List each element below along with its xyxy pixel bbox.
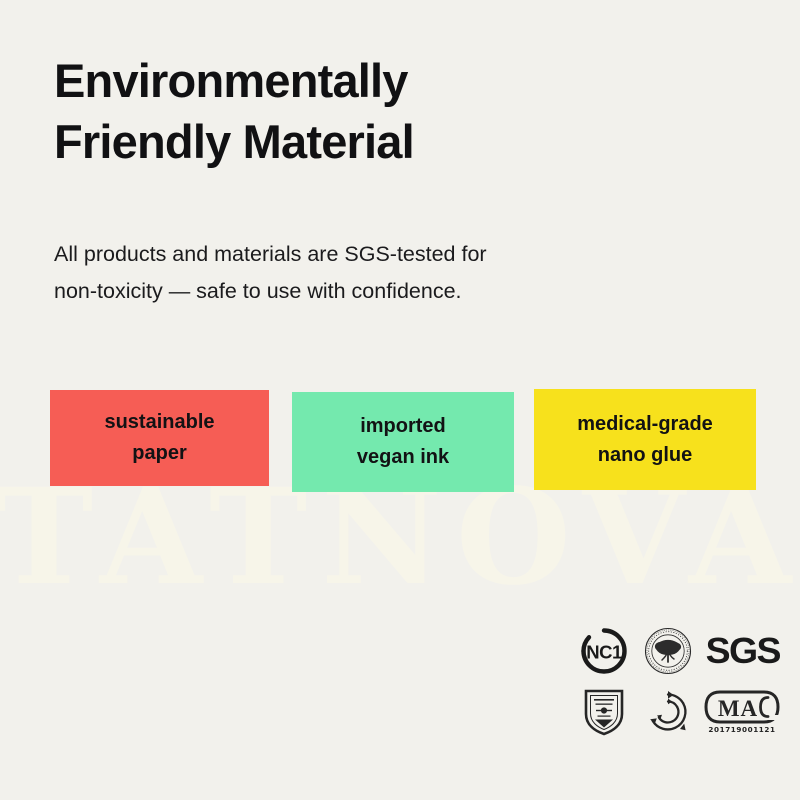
material-tag-medical-grade-nano-glue: medical-grade nano glue [534, 389, 756, 490]
sgs-wordmark-icon: SGS [706, 633, 780, 669]
svg-text:MA: MA [718, 696, 758, 721]
material-tag-line-1: imported [360, 411, 446, 442]
tree-seal-icon [643, 626, 693, 676]
page-title-line-2: Friendly Material [54, 111, 694, 172]
cma-mark-icon: MA [704, 690, 780, 724]
page-title-line-1: Environmentally [54, 54, 408, 107]
svg-text:NC1: NC1 [586, 642, 622, 663]
material-tag-row: sustainable paper imported vegan ink med… [50, 389, 762, 494]
description-line-1: All products and materials are SGS-teste… [54, 242, 487, 266]
cert-nc1: NC1 [580, 627, 628, 675]
recycle-arrows-icon [644, 688, 692, 736]
nc1-circle-icon: NC1 [580, 627, 628, 675]
cma-certificate-number: 201719001121 [708, 726, 775, 733]
material-tag-line-2: vegan ink [357, 442, 449, 473]
cert-shield [582, 687, 626, 737]
cert-sgs: SGS [705, 633, 779, 669]
certification-logo-grid: NC1 SGS [572, 620, 784, 748]
material-tag-line-2: paper [132, 438, 186, 469]
material-tag-imported-vegan-ink: imported vegan ink [292, 392, 514, 492]
description-line-2: non-toxicity — safe to use with confiden… [54, 273, 654, 310]
material-tag-line-2: nano glue [598, 440, 692, 471]
material-tag-sustainable-paper: sustainable paper [50, 390, 269, 486]
shield-badge-icon [582, 687, 626, 737]
page-title: Environmentally Friendly Material [54, 50, 694, 172]
poster-canvas: TATNOVA Environmentally Friendly Materia… [0, 0, 800, 800]
cert-cma: MA 201719001121 [704, 690, 780, 733]
material-tag-line-1: sustainable [104, 407, 214, 438]
description-text: All products and materials are SGS-teste… [54, 236, 654, 310]
cert-tree-seal [643, 626, 693, 676]
material-tag-line-1: medical-grade [577, 409, 713, 440]
cert-recycle [644, 688, 692, 736]
